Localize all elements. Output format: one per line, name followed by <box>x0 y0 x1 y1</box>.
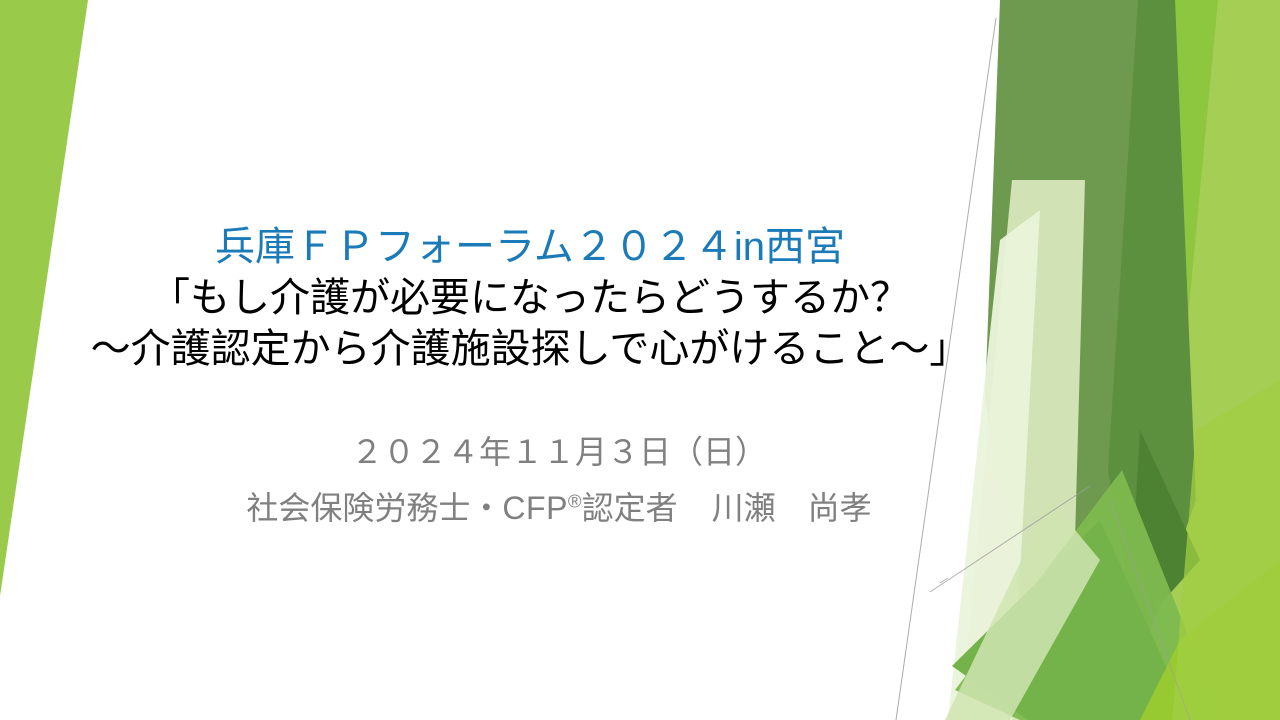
subtitle-block: ２０２４年１１月３日（日） 社会保険労務士・CFP®認定者川瀬 尚孝 <box>0 424 1118 536</box>
title-line-1: 兵庫ＦＰフォーラム２０２４in西宮 <box>0 222 1060 273</box>
title-line-3: ～介護認定から介護施設探しで心がけること～」 <box>0 324 1060 375</box>
presentation-slide: 兵庫ＦＰフォーラム２０２４in西宮 「もし介護が必要になったらどうするか？ ～介… <box>0 0 1280 720</box>
title-block: 兵庫ＦＰフォーラム２０２４in西宮 「もし介護が必要になったらどうするか？ ～介… <box>0 222 1060 375</box>
registered-trademark-icon: ® <box>568 490 582 511</box>
presenter-name: 川瀬 尚孝 <box>712 490 872 526</box>
cfp-mark: CFP <box>502 490 568 526</box>
slide-content: 兵庫ＦＰフォーラム２０２４in西宮 「もし介護が必要になったらどうするか？ ～介… <box>0 0 1280 720</box>
title-line-2: 「もし介護が必要になったらどうするか？ <box>0 273 1060 324</box>
presenter-credentials-suffix: 認定者 <box>582 490 678 526</box>
presenter-line: 社会保険労務士・CFP®認定者川瀬 尚孝 <box>0 480 1118 536</box>
event-date: ２０２４年１１月３日（日） <box>0 424 1118 480</box>
presenter-credentials-prefix: 社会保険労務士・ <box>246 490 502 526</box>
